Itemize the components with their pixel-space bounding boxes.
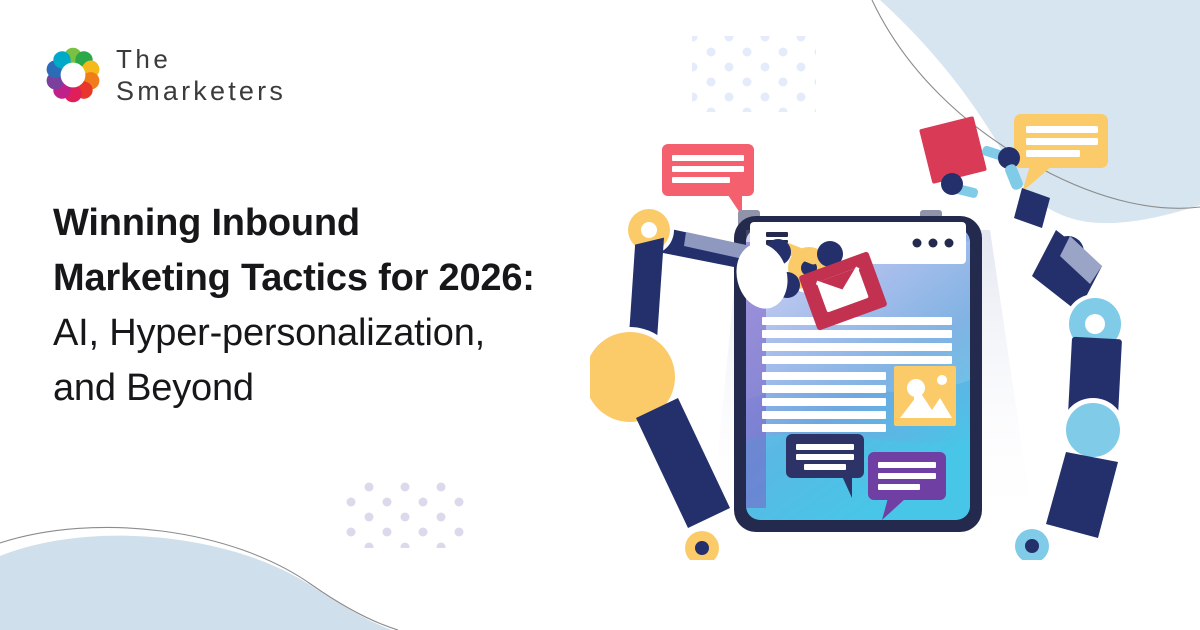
page-title: Winning Inbound Marketing Tactics for 20…: [53, 196, 673, 416]
og-image-canvas: The Smarketers Winning Inbound Marketing…: [0, 0, 1200, 630]
headline-line-1: Winning Inbound: [53, 196, 673, 251]
brand-line-2: Smarketers: [116, 78, 286, 105]
brand-line-1: The: [116, 46, 286, 72]
bubble-yellow: [1014, 114, 1108, 192]
headline-line-3: AI, Hyper-personalization,: [53, 306, 673, 361]
dot-grid-bottom: [340, 478, 464, 548]
picture-icon: [894, 366, 956, 426]
bubble-pink: [662, 144, 754, 216]
device-shadow-right: [975, 230, 1035, 535]
blob-bottom-left: [0, 536, 392, 630]
brand-wordmark: The Smarketers: [116, 46, 286, 105]
ai-marketing-automation-illustration: [590, 80, 1170, 560]
headline-line-2: Marketing Tactics for 2026:: [53, 251, 673, 306]
brand-logo[interactable]: The Smarketers: [42, 44, 286, 106]
three-dots-icon[interactable]: [913, 239, 954, 248]
headline-line-4: and Beyond: [53, 361, 673, 416]
smarketers-pinwheel-logo-icon: [42, 44, 104, 106]
